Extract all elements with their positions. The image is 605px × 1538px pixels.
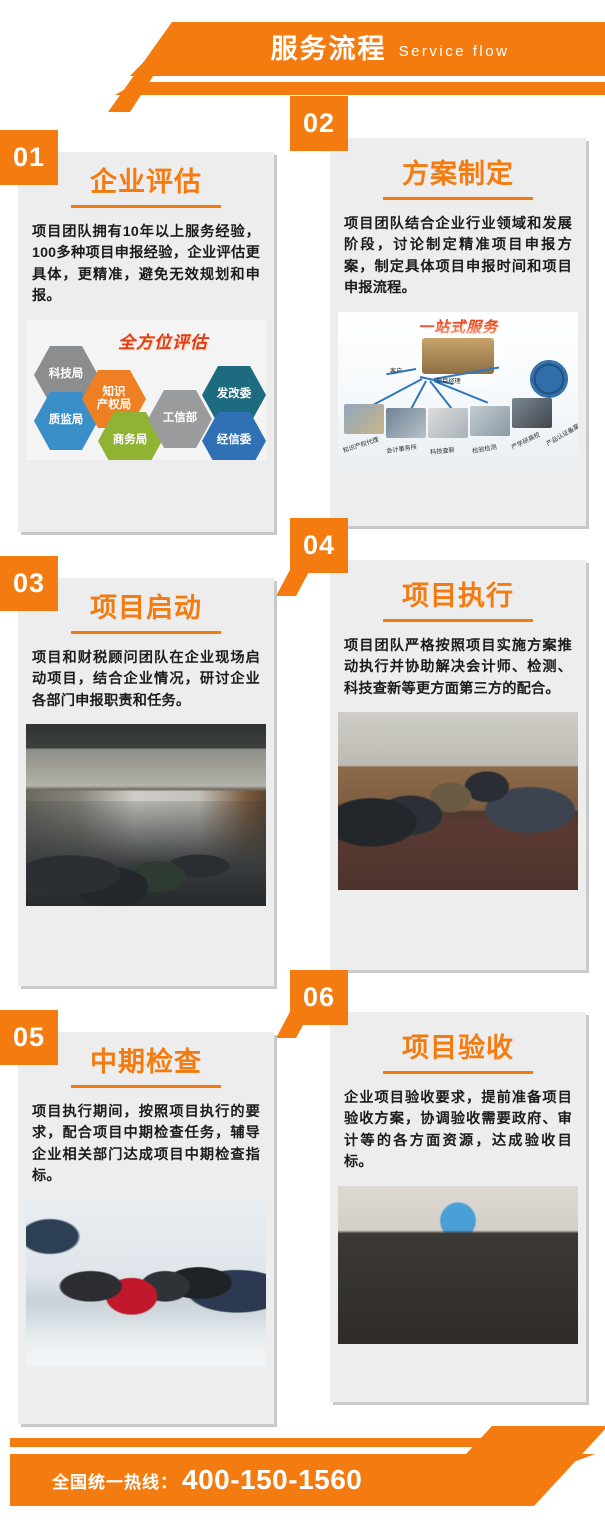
diagram-label-manager: 项目经理 [436,376,461,385]
one-stop-service-title: 一站式服务 [338,316,578,337]
step-number-06: 06 [290,970,348,1025]
card-header-04: 项目执行 [330,560,586,622]
diagram-label-search: 科技查新 [430,445,456,457]
step-number-03: 03 [0,556,58,611]
diagram-node-testing [470,406,510,436]
step-number-05: 05 [0,1010,58,1065]
card-title-05: 中期检查 [90,1048,202,1078]
page-footer: 全国统一热线： 400-150-1560 [0,1428,605,1538]
card-title-03: 项目启动 [90,594,202,624]
card-body-04: 项目团队严格按照项目实施方案推动执行并协助解决会计师、检测、科技查新等更方面第三… [330,622,586,713]
step-card-02[interactable]: 02 方案制定 项目团队结合企业行业领域和发展阶段，讨论制定精准项目申报方案，制… [330,138,586,526]
photo-showroom-tour [26,1200,266,1366]
hexagon-diagram-title: 全方位评估 [118,328,208,353]
step-card-06[interactable]: 06 项目验收 企业项目验收要求，提前准备项目验收方案，协调验收需要政府、审计等… [330,1012,586,1402]
title-underline-01 [71,205,221,208]
certification-seal-icon [530,360,568,398]
step-card-01[interactable]: 01 企业评估 项目团队拥有10年以上服务经验，100多种项目申报经验，企业评估… [18,152,274,532]
step-number-01: 01 [0,130,58,185]
one-stop-service-diagram: 一站式服务 客户 项目经理 知识产权代理 会计事务所 科技查新 检验检测 产学研… [338,312,578,472]
infographic-page: 服务流程 Service flow 01 企业评估 项目团队拥有10年以上服务经… [0,0,605,1538]
card-title-04: 项目执行 [402,582,514,612]
card-body-03: 项目和财税顾问团队在企业现场启动项目，结合企业情况，研讨企业各部门申报职责和任务… [18,634,274,725]
hotline-number: 400-150-1560 [182,1464,362,1496]
step-card-05[interactable]: 05 中期检查 项目执行期间，按照项目执行的要求，配合项目中期检查任务，辅导企业… [18,1032,274,1424]
step-number-02: 02 [290,96,348,151]
card-header-06: 项目验收 [330,1012,586,1074]
page-subtitle: Service flow [399,44,510,59]
diagram-node-ip [344,404,384,434]
diagram-label-ip: 知识产权代理 [342,434,380,454]
card-title-02: 方案制定 [402,160,514,190]
card-title-06: 项目验收 [402,1034,514,1064]
diagram-node-university [512,398,552,428]
photo-meeting-room [26,724,266,906]
card-body-06: 企业项目验收要求，提前准备项目验收方案，协调验收需要政府、审计等的各方面资源，达… [330,1074,586,1186]
card-body-01: 项目团队拥有10年以上服务经验，100多种项目申报经验，企业评估更具体，更精准，… [18,208,274,320]
title-underline-03 [71,631,221,634]
diagram-node-accounting [386,408,426,438]
hotline-label: 全国统一热线： [52,1468,178,1493]
card-photo-03 [26,724,266,906]
diagram-label-accounting: 会计事务所 [386,442,418,455]
title-underline-02 [383,197,533,200]
card-photo-04 [338,712,578,890]
diagram-node-search [428,408,468,438]
diagram-label-customer: 客户 [390,366,402,375]
step-card-03[interactable]: 03 项目启动 项目和财税顾问团队在企业现场启动项目，结合企业情况，研讨企业各部… [18,578,274,986]
title-underline-05 [71,1085,221,1088]
photo-acceptance-meeting [338,1186,578,1344]
card-header-02: 方案制定 [330,138,586,200]
card-photo-06 [338,1186,578,1344]
hexagon-diagram-01: 全方位评估 科技局 质监局 知识产权局 商务局 工信部 发改委 经信委 [26,320,266,460]
card-body-02: 项目团队结合企业行业领域和发展阶段，讨论制定精准项目申报方案，制定具体项目申报时… [330,200,586,312]
diagram-label-testing: 检验检测 [471,442,497,455]
step-number-04: 04 [290,518,348,573]
card-body-05: 项目执行期间，按照项目执行的要求，配合项目中期检查任务，辅导企业相关部门达成项目… [18,1088,274,1200]
diagram-label-university: 产学研高校 [510,430,542,452]
title-underline-04 [383,619,533,622]
page-title: 服务流程 [271,36,387,63]
photo-office-collaboration [338,712,578,890]
title-underline-06 [383,1071,533,1074]
footer-stripe [10,1438,550,1447]
footer-hotline[interactable]: 全国统一热线： 400-150-1560 [52,1454,362,1506]
header-title-group: 服务流程 Service flow [180,22,600,76]
header-stripe [115,82,605,95]
step-card-04[interactable]: 04 项目执行 项目团队严格按照项目实施方案推动执行并协助解决会计师、检测、科技… [330,560,586,970]
card-photo-05 [26,1200,266,1366]
card-title-01: 企业评估 [90,168,202,198]
